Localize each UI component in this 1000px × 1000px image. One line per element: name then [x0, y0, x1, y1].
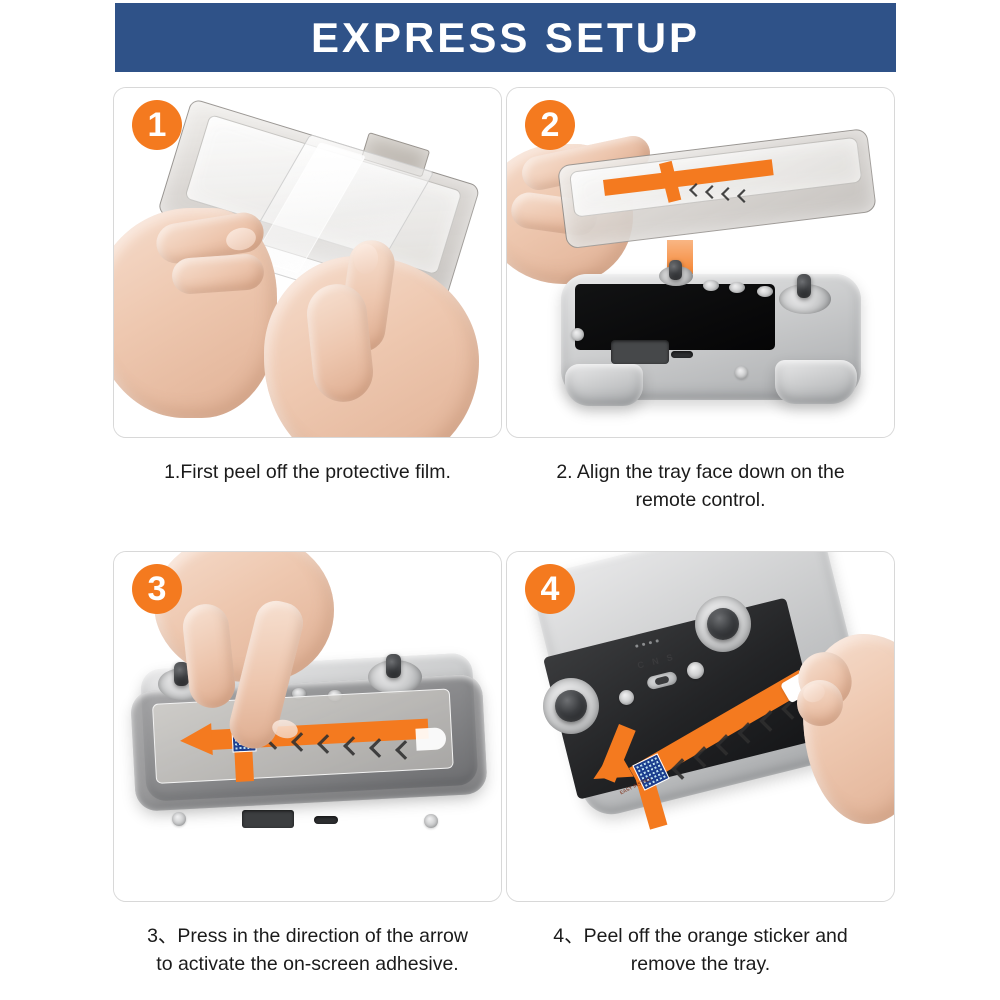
step-caption-2: 2. Align the tray face down on the remot…	[506, 458, 895, 515]
header-banner: EXPRESS SETUP	[115, 3, 896, 72]
right-control-stick	[707, 608, 739, 640]
screw-left	[172, 812, 186, 826]
step-badge-4: 4	[525, 564, 575, 614]
step-caption-3-line1: 3、Press in the direction of the arrow	[147, 925, 468, 947]
remote-screen	[575, 284, 775, 350]
step-card-4: C N S EASY INSTALL	[506, 551, 895, 979]
step-caption-3-line2: to activate the on-screen adhesive.	[113, 950, 502, 978]
step-caption-2-line2: remote control.	[506, 486, 895, 514]
left-thumb	[171, 253, 265, 295]
step-panel-1: 1	[113, 87, 502, 438]
screw-left	[571, 328, 584, 341]
step-panel-2: 2	[506, 87, 895, 438]
mode-button-a	[703, 280, 719, 291]
remote-controller-grip-left	[565, 364, 643, 406]
usb-port	[671, 351, 693, 358]
accessory-slot	[242, 810, 294, 828]
step-caption-4-line2: remove the tray.	[506, 950, 895, 978]
page-title: EXPRESS SETUP	[311, 17, 700, 59]
record-button	[619, 690, 634, 705]
step-card-2: 2 2. Align the tray face down on the rem…	[506, 87, 895, 515]
step-caption-4-line1: 4、Peel off the orange sticker and	[553, 925, 848, 947]
step-panel-4: C N S EASY INSTALL	[506, 551, 895, 902]
mode-button-b	[729, 282, 745, 293]
remote-controller-grip-right	[775, 360, 857, 404]
step-card-3: SCAN ME 3 3、	[113, 551, 502, 979]
step-caption-4: 4、Peel off the orange sticker and remove…	[506, 922, 895, 979]
power-button	[687, 662, 704, 679]
step-panel-3: SCAN ME 3	[113, 551, 502, 902]
left-control-stick	[555, 690, 587, 722]
mode-button-c	[757, 286, 773, 297]
step-caption-2-line1: 2. Align the tray face down on the	[556, 461, 844, 483]
step-caption-1-line1: 1.First peel off the protective film.	[164, 461, 451, 483]
step-badge-1: 1	[132, 100, 182, 150]
adhesive-arrow-head	[179, 723, 213, 757]
sticker-pull-tab	[415, 727, 446, 751]
step-caption-1: 1.First peel off the protective film.	[113, 458, 502, 486]
accessory-slot	[611, 340, 669, 364]
steps-grid: 1 1.First peel off the protective film.	[0, 87, 1000, 987]
step-badge-2: 2	[525, 100, 575, 150]
right-control-stick	[797, 274, 811, 298]
screw-right	[735, 366, 748, 379]
step-caption-3: 3、Press in the direction of the arrow to…	[113, 922, 502, 979]
usb-port	[314, 816, 338, 824]
left-control-stick	[669, 260, 682, 280]
screw-right	[424, 814, 438, 828]
step-card-1: 1 1.First peel off the protective film.	[113, 87, 502, 486]
step-badge-3: 3	[132, 564, 182, 614]
right-control-stick	[386, 654, 401, 678]
